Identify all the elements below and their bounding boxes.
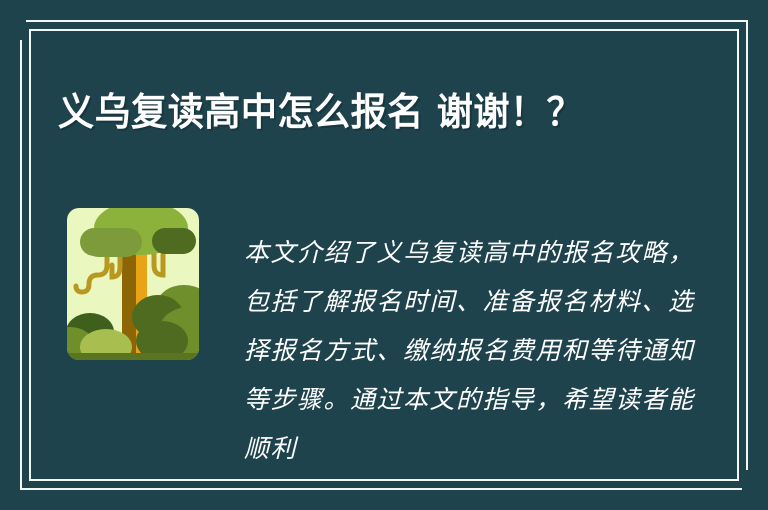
tree-illustration	[58, 195, 208, 375]
canopy-lobe-right-dark	[152, 228, 196, 254]
frame-corner-mask-bottom-right	[742, 470, 768, 500]
illustration-ground	[58, 353, 208, 363]
poster-canvas: 义乌复读高中怎么报名 谢谢！？	[0, 0, 768, 510]
canopy-lobe-left-overlay	[80, 228, 142, 256]
frame-corner-mask-top-left	[0, 14, 26, 40]
content-row: 本文介绍了义乌复读高中的报名攻略，包括了解报名时间、准备报名材料、选择报名方式、…	[58, 195, 710, 455]
body-paragraph: 本文介绍了义乌复读高中的报名攻略，包括了解报名时间、准备报名材料、选择报名方式、…	[244, 220, 710, 488]
page-title: 义乌复读高中怎么报名 谢谢！？	[58, 91, 666, 135]
tree-illustration-svg	[58, 195, 208, 375]
